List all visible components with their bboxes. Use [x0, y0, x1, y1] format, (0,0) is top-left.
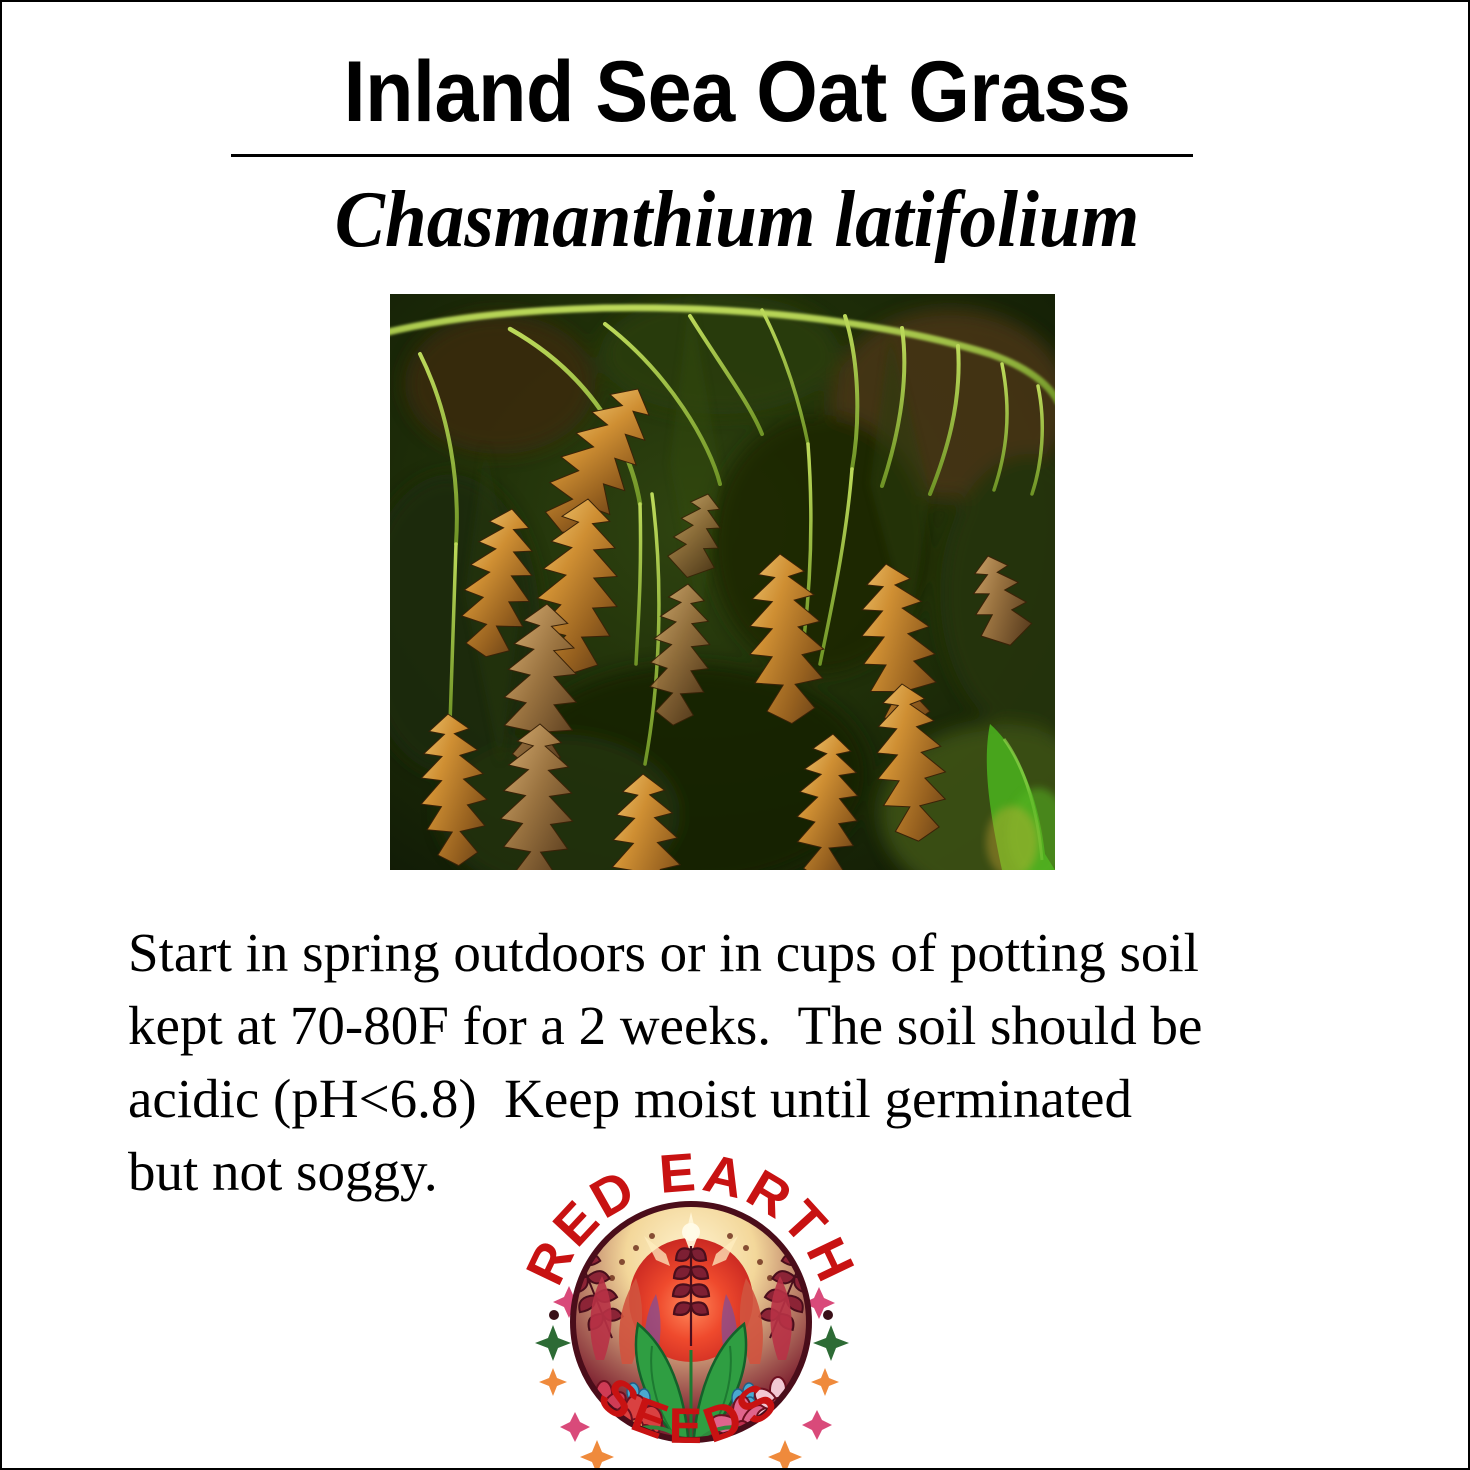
instruction-line: Start in spring outdoors or in cups of p… [128, 916, 1398, 989]
brand-logo: RED EARTH SEEDS [526, 1150, 856, 1470]
plant-photo-illustration [390, 294, 1055, 870]
title-divider [231, 154, 1193, 157]
plant-photo [390, 294, 1055, 870]
scientific-name: Chasmanthium latifolium [46, 170, 1428, 270]
red-earth-seeds-emblem: RED EARTH SEEDS [526, 1150, 856, 1470]
seed-packet-label: Inland Sea Oat Grass Chasmanthium latifo… [0, 0, 1470, 1470]
page-title: Inland Sea Oat Grass [61, 44, 1413, 140]
instruction-line: acidic (pH<6.8) Keep moist until germina… [128, 1062, 1398, 1135]
instruction-line: kept at 70-80F for a 2 weeks. The soil s… [128, 989, 1398, 1062]
